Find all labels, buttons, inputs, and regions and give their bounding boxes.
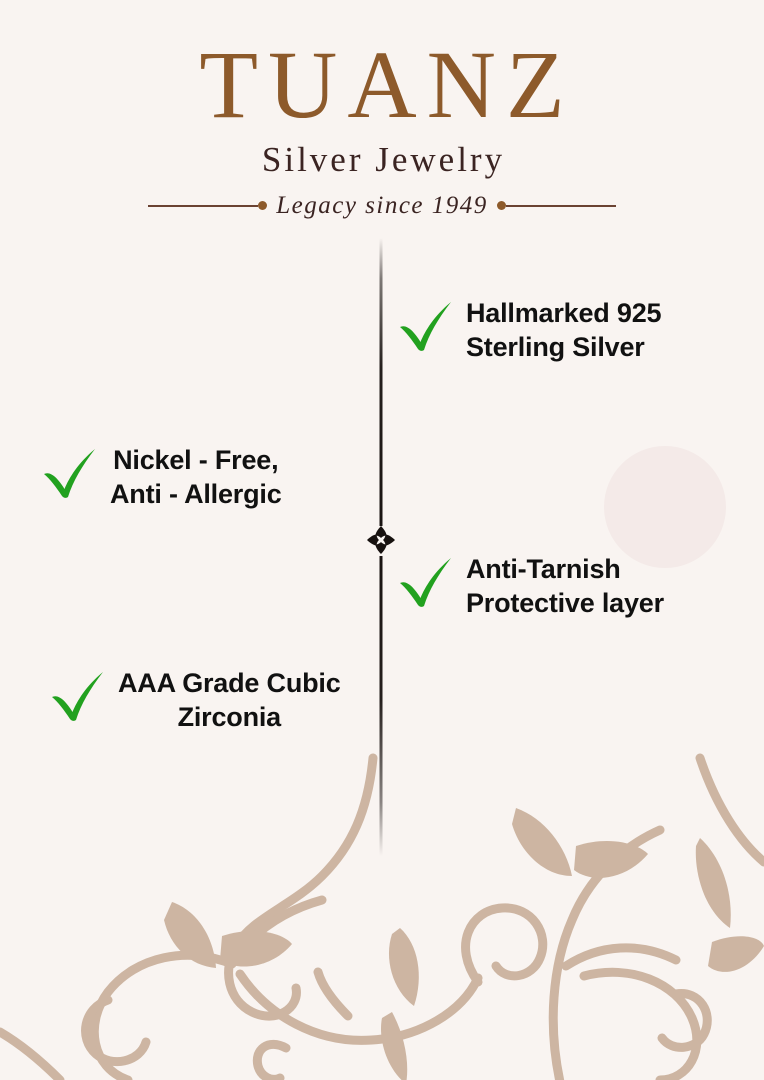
green-check-icon: [398, 300, 454, 352]
feature-label: Anti-Tarnish Protective layer: [466, 552, 664, 620]
tagline-dot-left-icon: [258, 201, 267, 210]
feature-item-aaa-grade-cubic-zirconia: AAA Grade Cubic Zirconia: [50, 666, 341, 734]
feature-label: Hallmarked 925 Sterling Silver: [466, 296, 661, 364]
brand-header: TUANZ Silver Jewelry Legacy since 1949: [0, 0, 764, 220]
tagline-rule-right: [506, 205, 616, 207]
poster-canvas: TUANZ Silver Jewelry Legacy since 1949 H…: [0, 0, 764, 1080]
brand-tagline: Legacy since 1949: [267, 192, 497, 220]
feature-label: AAA Grade Cubic Zirconia: [118, 666, 341, 734]
tagline-dot-right-icon: [497, 201, 506, 210]
brand-subtitle: Silver Jewelry: [0, 134, 764, 180]
green-check-icon: [42, 447, 98, 499]
green-check-icon: [50, 670, 106, 722]
green-check-icon: [398, 556, 454, 608]
feature-label: Nickel - Free, Anti - Allergic: [110, 443, 282, 511]
feature-item-anti-tarnish-protective-layer: Anti-Tarnish Protective layer: [398, 552, 664, 620]
feature-item-nickel-free-anti-allergic: Nickel - Free, Anti - Allergic: [42, 443, 282, 511]
blush-circle-decor-icon: [604, 446, 726, 568]
brand-tagline-row: Legacy since 1949: [0, 180, 764, 220]
brand-name: TUANZ: [0, 0, 764, 134]
divider-line-top: [380, 238, 383, 526]
feature-item-hallmarked-925-sterling-silver: Hallmarked 925 Sterling Silver: [398, 296, 661, 364]
tagline-rule-left: [148, 205, 258, 207]
divider-line-bottom: [380, 556, 383, 856]
quatrefoil-ornament-icon: [365, 524, 397, 556]
